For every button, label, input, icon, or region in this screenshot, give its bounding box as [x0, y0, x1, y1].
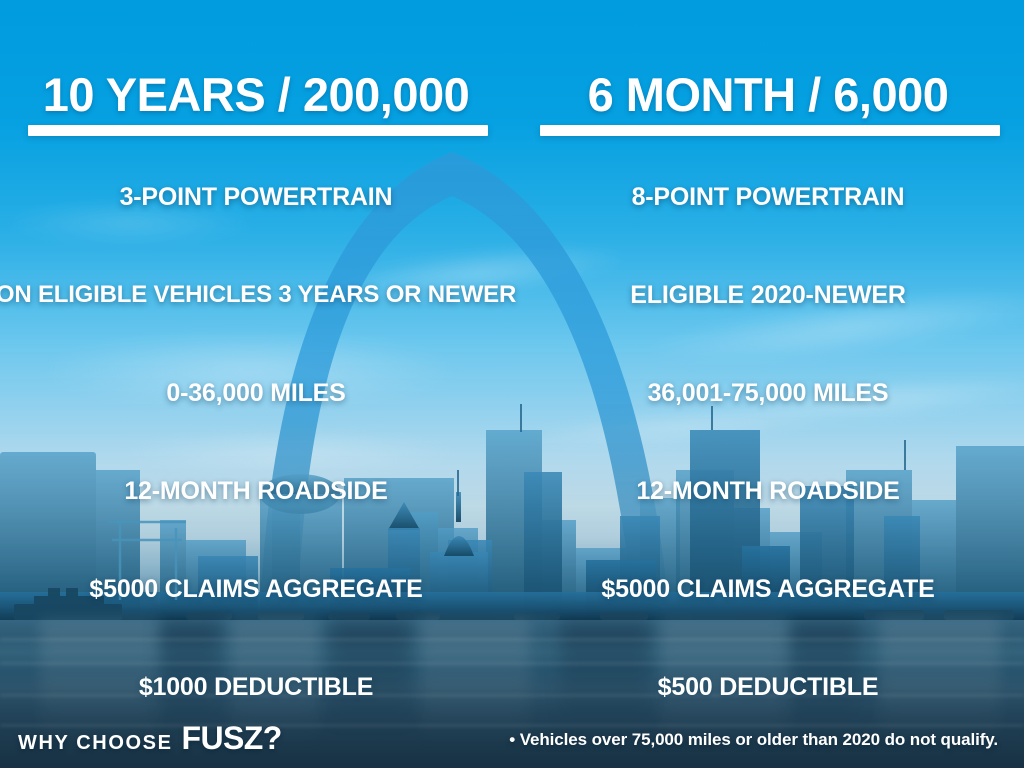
benefit-cell-left-1: 3-POINT POWERTRAIN — [0, 148, 512, 246]
benefit-label: $5000 CLAIMS AGGREGATE — [89, 576, 422, 602]
disclaimer-text: • Vehicles over 75,000 miles or older th… — [509, 730, 998, 750]
logo-prefix: WHY CHOOSE — [18, 732, 173, 755]
logo-name: FUSZ? — [182, 720, 282, 757]
column-heading-right: 6 MONTH / 6,000 — [512, 52, 1024, 140]
content-overlay: 10 YEARS / 200,000 6 MONTH / 6,000 3-POI… — [0, 0, 1024, 768]
footer: WHY CHOOSE FUSZ? • Vehicles over 75,000 … — [0, 706, 1024, 768]
benefit-cell-right-3: 36,001-75,000 MILES — [512, 344, 1024, 442]
benefit-cell-right-5: $5000 CLAIMS AGGREGATE — [512, 540, 1024, 638]
benefit-label: $1000 DEDUCTIBLE — [139, 674, 373, 700]
benefit-cell-right-4: 12-MONTH ROADSIDE — [512, 442, 1024, 540]
benefit-label: $5000 CLAIMS AGGREGATE — [601, 576, 934, 602]
heading-underline-right — [540, 125, 1000, 136]
benefit-label: 8-POINT POWERTRAIN — [632, 184, 905, 210]
column-heading-left: 10 YEARS / 200,000 — [0, 52, 512, 140]
heading-underline-left — [28, 125, 488, 136]
benefit-label: 0-36,000 MILES — [166, 380, 345, 406]
benefit-cell-right-1: 8-POINT POWERTRAIN — [512, 148, 1024, 246]
benefit-cell-left-4: 12-MONTH ROADSIDE — [0, 442, 512, 540]
benefit-label: 3-POINT POWERTRAIN — [120, 184, 393, 210]
heading-text-left: 10 YEARS / 200,000 — [0, 71, 512, 118]
benefit-cell-left-2: ON ELIGIBLE VEHICLES 3 YEARS OR NEWER — [0, 246, 512, 344]
benefit-label: 12-MONTH ROADSIDE — [636, 478, 899, 504]
benefit-cell-left-3: 0-36,000 MILES — [0, 344, 512, 442]
benefit-label: $500 DEDUCTIBLE — [658, 674, 879, 700]
benefit-label: ON ELIGIBLE VEHICLES 3 YEARS OR NEWER — [0, 282, 516, 307]
heading-text-right: 6 MONTH / 6,000 — [512, 71, 1024, 118]
warranty-comparison-graphic: 10 YEARS / 200,000 6 MONTH / 6,000 3-POI… — [0, 0, 1024, 768]
benefit-label: 36,001-75,000 MILES — [648, 380, 889, 406]
benefit-cell-left-5: $5000 CLAIMS AGGREGATE — [0, 540, 512, 638]
benefit-label: 12-MONTH ROADSIDE — [124, 478, 387, 504]
benefit-label: ELIGIBLE 2020-NEWER — [630, 282, 905, 308]
benefit-cell-right-2: ELIGIBLE 2020-NEWER — [512, 246, 1024, 344]
column-headings: 10 YEARS / 200,000 6 MONTH / 6,000 — [0, 52, 1024, 140]
fusz-logo: WHY CHOOSE FUSZ? — [18, 720, 282, 757]
benefits-grid: 3-POINT POWERTRAIN 8-POINT POWERTRAIN ON… — [0, 148, 1024, 708]
